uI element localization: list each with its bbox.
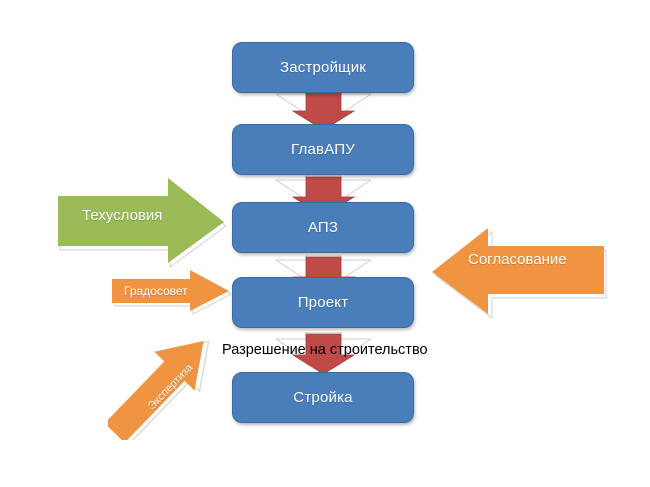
node-label: ГлавАПУ [291, 141, 355, 158]
node-zastroyshchik[interactable]: Застройщик [232, 42, 414, 93]
side-arrow-gradosovet[interactable] [110, 268, 234, 318]
node-glavapu[interactable]: ГлавАПУ [232, 124, 414, 175]
node-label: АПЗ [308, 219, 338, 236]
node-label: Стройка [293, 389, 352, 406]
connector-zastroyshchik-to-glavapu [276, 89, 371, 129]
side-arrow-tehusloviya[interactable] [54, 178, 230, 270]
caption-building-permit: Разрешение на строительство [222, 342, 428, 358]
side-arrow-soglasovanie[interactable] [430, 224, 608, 322]
side-arrow-ekspertiza[interactable] [108, 318, 234, 440]
node-apz[interactable]: АПЗ [232, 202, 414, 253]
node-proekt[interactable]: Проект [232, 277, 414, 328]
node-label: Проект [298, 294, 349, 311]
diagram-canvas: Застройщик ГлавАПУ АПЗ Проект Стройка Те… [0, 0, 650, 487]
node-stroyka[interactable]: Стройка [232, 372, 414, 423]
node-label: Застройщик [280, 59, 366, 76]
